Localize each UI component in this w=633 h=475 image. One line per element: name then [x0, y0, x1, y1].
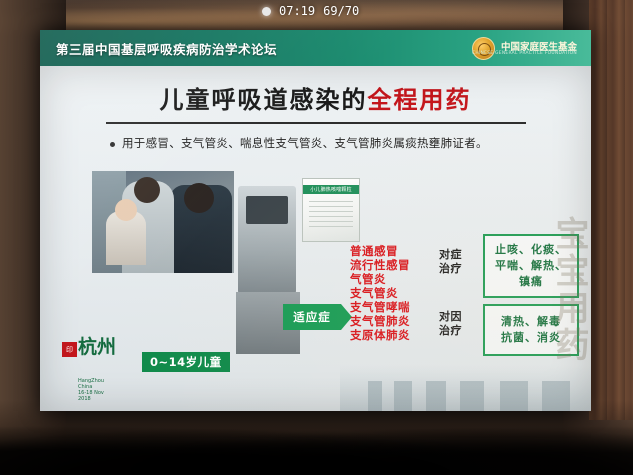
product-package: 小儿肺热咳喘颗粒 — [302, 178, 360, 242]
organization-name-en: CHINESE GENERAL PRACTICE FOUNDATION — [472, 51, 577, 56]
osd-page: 69/70 — [323, 4, 359, 18]
indication-list: 普通感冒 流行性感冒 气管炎 支气管炎 支气管哮喘 支气管肺炎 支原体肺炎 — [350, 244, 410, 342]
list-item: 气管炎 — [350, 272, 410, 286]
list-item: 支气管哮喘 — [350, 300, 410, 314]
slide-title-plain: 儿童呼吸道感染的 — [160, 86, 368, 114]
list-item: 支气管炎 — [350, 286, 410, 300]
indication-tag: 适应症 — [283, 304, 341, 330]
list-item: 支气管肺炎 — [350, 314, 410, 328]
parent-head — [134, 177, 160, 203]
doctor-head — [184, 183, 214, 213]
slide-title: 儿童呼吸道感染的全程用药 — [40, 80, 591, 115]
city-name-cn: 杭州 — [78, 338, 116, 357]
clinic-photo — [92, 171, 234, 273]
slide-title-highlight: 全程用药 — [368, 86, 472, 114]
list-item: 镇痛 — [519, 274, 543, 290]
age-badge: 0~14岁儿童 — [142, 352, 230, 372]
medical-device — [238, 186, 296, 294]
slide-content: 儿童呼吸道感染的全程用药 用于感冒、支气管炎、喘息性支气管炎、支气管肺炎属痰热壅… — [40, 66, 591, 411]
banner-title: 第三届中国基层呼吸疾病防治学术论坛 — [56, 39, 277, 58]
projector-osd: 07:19 69/70 — [262, 4, 359, 18]
right-curtain — [589, 0, 633, 420]
list-item: 抗菌、消炎 — [501, 330, 561, 346]
city-info-en: HangZhou China 16-18 Nov 2018 — [78, 378, 104, 402]
child-head — [115, 199, 137, 221]
conference-photo: 第三届中国基层呼吸疾病防治学术论坛 中国家庭医生基金 CHINESE GENER… — [0, 0, 633, 475]
bullet-text: 用于感冒、支气管炎、喘息性支气管炎、支气管肺炎属痰热壅肺证者。 — [122, 136, 488, 151]
cause-treatment-label: 对因治疗 — [439, 310, 462, 338]
projection-screen: 第三届中国基层呼吸疾病防治学术论坛 中国家庭医生基金 CHINESE GENER… — [40, 30, 591, 411]
symptomatic-treatment-label: 对症治疗 — [439, 248, 462, 276]
osd-time: 07:19 — [279, 4, 315, 18]
product-package-label: 小儿肺热咳喘颗粒 — [303, 186, 359, 193]
list-item: 清热、解毒 — [501, 314, 561, 330]
audience-silhouettes — [0, 417, 633, 475]
symptomatic-effects-box: 止咳、化痰、 平喘、解热、 镇痛 — [483, 234, 579, 298]
list-item: 平喘、解热、 — [495, 258, 567, 274]
list-item: 止咳、化痰、 — [495, 242, 567, 258]
bullet-dot-icon — [110, 142, 115, 147]
gold-seal-icon — [472, 37, 495, 60]
record-dot-icon — [262, 7, 271, 16]
list-item: 流行性感冒 — [350, 258, 410, 272]
doctor-figure — [170, 185, 232, 273]
cause-effects-box: 清热、解毒 抗菌、消炎 — [483, 304, 579, 356]
list-item: 支原体肺炎 — [350, 328, 410, 342]
list-item: 普通感冒 — [350, 244, 410, 258]
device-display — [246, 196, 288, 224]
bullet-row: 用于感冒、支气管炎、喘息性支气管炎、支气管肺炎属痰热壅肺证者。 — [110, 136, 550, 151]
city-logo: 印 杭州 HangZhou China 16-18 Nov 2018 — [62, 338, 132, 394]
title-divider — [106, 122, 526, 124]
list-item: 2018 — [78, 396, 104, 402]
product-package-text-lines — [309, 201, 353, 231]
child-figure — [106, 211, 146, 265]
stamp-icon: 印 — [62, 342, 77, 357]
city-skyline-graphic — [340, 365, 591, 411]
conference-banner: 第三届中国基层呼吸疾病防治学术论坛 中国家庭医生基金 CHINESE GENER… — [40, 30, 591, 66]
